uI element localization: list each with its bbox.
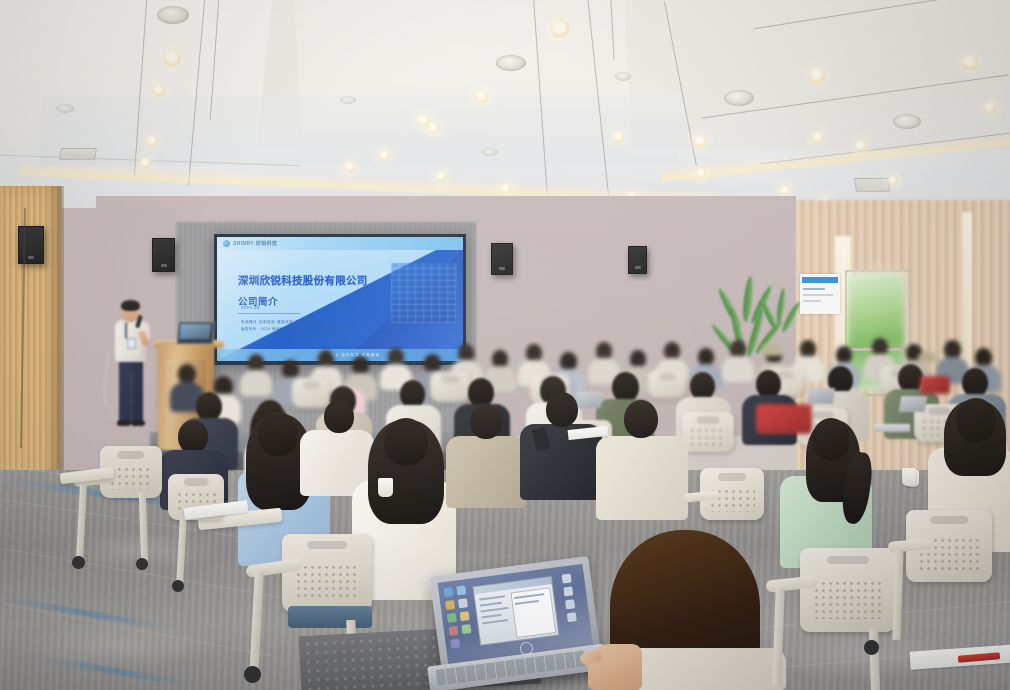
- ceiling-downlight: [436, 172, 446, 181]
- podium-laptop-screen: [179, 324, 211, 339]
- conference-room-photo: SHINRY 欣锐科技 深圳欣锐科技股份有限公司 公司简介 2024.08 电源…: [0, 0, 1010, 690]
- wall-speaker: [628, 246, 647, 274]
- slide-meta-line: 版权所有 · 2024 深圳欣锐科技股份有限公司 保留所有权利: [241, 326, 344, 331]
- ceiling-downlight: [152, 84, 165, 96]
- wall-speaker: [18, 226, 44, 264]
- ceiling-speaker: [482, 148, 498, 156]
- slide-product-image: [391, 263, 457, 323]
- ceiling-downlight: [551, 20, 569, 38]
- ceiling-downlight: [164, 50, 181, 67]
- ceiling-downlight: [962, 55, 978, 70]
- presentation-slide: SHINRY 欣锐科技 深圳欣锐科技股份有限公司 公司简介 2024.08 电源…: [217, 237, 463, 361]
- slide-date: 2024.08: [241, 305, 260, 310]
- ceiling-downlight: [613, 132, 624, 142]
- ceiling-speaker: [340, 96, 356, 104]
- slide-title: 深圳欣锐科技股份有限公司: [238, 273, 368, 288]
- ceiling-downlight: [501, 184, 511, 193]
- slide-meta-line: 电源器件 控制系统 储能科技 充电平台方案: [241, 319, 320, 324]
- ceiling-speaker: [496, 55, 526, 71]
- ceiling-downlight: [694, 136, 706, 147]
- ceiling-downlight: [780, 186, 790, 195]
- ceiling-speaker: [56, 104, 74, 113]
- poster-header-bar: [802, 277, 838, 283]
- ceiling-downlight: [428, 123, 439, 133]
- poster-line: [803, 300, 821, 302]
- presenter-shoe: [117, 420, 131, 426]
- ceiling-downlight: [417, 115, 429, 126]
- ceiling-downlight: [475, 91, 488, 103]
- ceiling-downlight: [855, 141, 866, 151]
- ceiling-downlight: [984, 102, 996, 113]
- ceiling-speaker: [157, 6, 189, 24]
- presenter-shoe: [131, 420, 145, 426]
- wall-speaker: [491, 243, 513, 275]
- company-logo-text: SHINRY 欣锐科技: [233, 240, 277, 247]
- ceiling-downlight: [888, 176, 898, 185]
- bag: [756, 404, 812, 434]
- ceiling-downlight: [379, 151, 389, 160]
- ceiling-downlight: [344, 162, 355, 172]
- paper-cup: [378, 478, 393, 497]
- poster-line: [803, 288, 825, 290]
- laptop-dialog-window[interactable]: [472, 576, 559, 646]
- slide-divider: [238, 313, 300, 314]
- ceiling-speaker: [893, 114, 921, 129]
- ceiling-downlight: [140, 158, 151, 168]
- ceiling-downlight: [696, 169, 706, 178]
- training-chair: [282, 534, 372, 612]
- ceiling-downlight: [809, 68, 825, 83]
- presenter-trouser-seam: [130, 372, 132, 422]
- paper-cup: [902, 468, 916, 486]
- wall-speaker: [152, 238, 175, 272]
- ceiling-downlight: [146, 136, 158, 147]
- presenter-badge: [127, 338, 136, 349]
- ceiling-speaker: [724, 90, 754, 106]
- ceiling-speaker: [615, 72, 631, 81]
- presenter-hair: [121, 300, 140, 311]
- training-chair: [682, 412, 734, 452]
- ceiling-downlight: [812, 132, 824, 143]
- poster-line: [803, 294, 833, 296]
- chair-seat: [288, 606, 372, 628]
- company-logo-icon: [223, 240, 230, 247]
- bag: [920, 376, 950, 394]
- training-chair: [800, 548, 896, 632]
